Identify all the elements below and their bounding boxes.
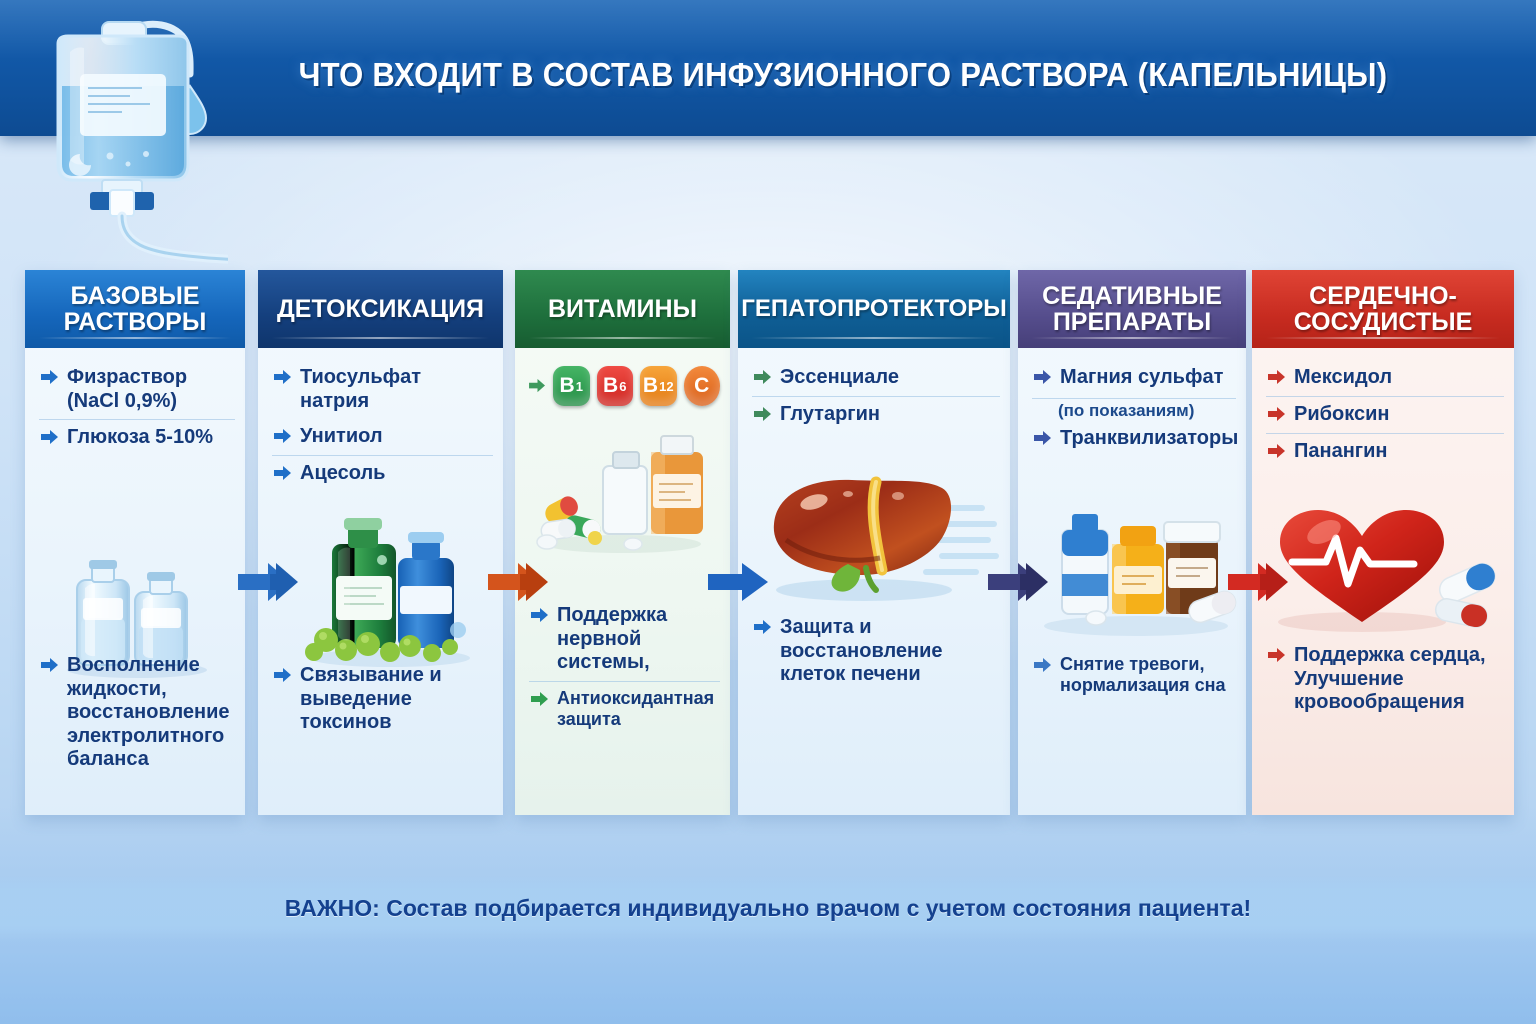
list-item[interactable]: Глюкоза 5-10% (39, 419, 235, 456)
list-item-label: Глюкоза 5-10% (67, 426, 213, 450)
arrow-right-icon (1034, 369, 1052, 390)
list-item[interactable]: Ацесоль (272, 455, 493, 492)
arrow-right-icon (274, 369, 292, 390)
benefit-list: Снятие тревоги, нормализация сна (1032, 648, 1236, 702)
category-card-detox[interactable]: ДЕТОКСИКАЦИЯ Тиосульфат натрия Унитиол (258, 270, 503, 815)
benefit-label: Защита и восстановление клеток печени (780, 616, 998, 687)
card-title: ВИТАМИНЫ (548, 296, 697, 322)
pill-bottles-capsules-illustration (1036, 500, 1246, 640)
badge-subscript: 12 (659, 379, 673, 394)
list-item-label: Рибоксин (1294, 403, 1389, 427)
liver-icon (756, 466, 1006, 606)
benefit-label: Снятие тревоги, нормализация сна (1060, 654, 1234, 696)
header-separator (1032, 337, 1232, 339)
list-item[interactable]: Транквилизаторы (1032, 421, 1236, 457)
arrow-right-icon (41, 429, 59, 450)
badge-subscript: 1 (576, 379, 583, 394)
footer-banner: ВАЖНО: Состав подбирается индивидуально … (0, 876, 1536, 940)
card-header-vitamins: ВИТАМИНЫ (515, 270, 730, 348)
category-card-base-solutions[interactable]: БАЗОВЫЕ РАСТВОРЫ Физраствор (NaCl 0,9%) … (25, 270, 245, 815)
list-item[interactable]: Поддержка нервной системы, (529, 598, 720, 681)
badge-letter: B (643, 374, 658, 398)
category-card-hepatoprotectors[interactable]: ГЕПАТОПРОТЕКТОРЫ Эссенциале Глутаргин (738, 270, 1010, 815)
card-title: СЕДАТИВНЫЕ ПРЕПАРАТЫ (1018, 283, 1246, 336)
list-item[interactable]: Тиосульфат натрия (272, 360, 493, 419)
vitamin-badge-b6[interactable]: B6 (597, 366, 634, 406)
ingredient-list: Магния сульфат (по показаниям) Транквили… (1032, 360, 1236, 457)
card-title: СЕРДЕЧНО-СОСУДИСТЫЕ (1252, 283, 1514, 336)
vitamin-badges: B1 B6 B12 C (529, 360, 720, 410)
arrow-right-icon (529, 378, 546, 398)
list-item-label: Эссенциале (780, 366, 899, 390)
list-item[interactable]: Мексидол (1266, 360, 1504, 396)
ingredient-list: Физраствор (NaCl 0,9%) Глюкоза 5-10% (39, 360, 235, 456)
list-item[interactable]: Восполнение жидкости, восстановление эле… (39, 648, 235, 778)
arrow-right-icon (1268, 406, 1286, 427)
category-card-vitamins[interactable]: ВИТАМИНЫ B1 B6 B12 (515, 270, 730, 815)
benefit-list: Поддержка сердца, Улучшение кровообращен… (1266, 638, 1504, 721)
footer-text: ВАЖНО: Состав подбирается индивидуально … (285, 895, 1251, 922)
list-item[interactable]: Глутаргин (752, 396, 1000, 433)
list-item-label: Тиосульфат натрия (300, 366, 491, 413)
ingredient-list: Тиосульфат натрия Унитиол Ацесоль (272, 360, 493, 492)
card-header-hepatoprotectors: ГЕПАТОПРОТЕКТОРЫ (738, 270, 1010, 348)
card-title: ДЕТОКСИКАЦИЯ (277, 296, 484, 322)
card-header-detox: ДЕТОКСИКАЦИЯ (258, 270, 503, 348)
arrow-right-icon (1268, 647, 1286, 668)
list-item-label: Физраствор (NaCl 0,9%) (67, 366, 233, 413)
benefit-list: Связывание и выведение токсинов (272, 658, 493, 741)
vitamin-badge-b1[interactable]: B1 (553, 366, 590, 406)
list-item[interactable]: Рибоксин (1266, 396, 1504, 433)
benefit-list: Защита и восстановление клеток печени (752, 610, 1000, 693)
connector-3 (706, 560, 778, 604)
list-item[interactable]: Антиоксидантная защита (529, 681, 720, 736)
header-separator (272, 337, 489, 339)
benefit-label: Антиоксидантная защита (557, 688, 718, 730)
card-header-base-solutions: БАЗОВЫЕ РАСТВОРЫ (25, 270, 245, 348)
card-body: Эссенциале Глутаргин (738, 348, 1010, 815)
arrow-right-icon (274, 428, 292, 449)
list-item[interactable]: Снятие тревоги, нормализация сна (1032, 648, 1236, 702)
list-item[interactable]: Панангин (1266, 433, 1504, 470)
category-card-sedatives[interactable]: СЕДАТИВНЫЕ ПРЕПАРАТЫ Магния сульфат (по … (1018, 270, 1246, 815)
arrow-right-icon (531, 607, 549, 628)
list-item[interactable]: Унитиол (272, 419, 493, 455)
list-item-label: Мексидол (1294, 366, 1392, 390)
detox-bottles-charcoal-illustration (298, 508, 483, 668)
list-item-label: Ацесоль (300, 462, 385, 486)
header-separator (1266, 337, 1500, 339)
list-item[interactable]: Эссенциале (752, 360, 1000, 396)
benefit-label: Поддержка сердца, Улучшение кровообращен… (1294, 644, 1502, 715)
connector-4 (986, 560, 1058, 604)
arrow-right-icon (1268, 369, 1286, 390)
list-item-label: Транквилизаторы (1060, 427, 1238, 451)
arrow-right-icon (41, 369, 59, 390)
badge-letter: B (560, 374, 575, 398)
list-item-label: Глутаргин (780, 403, 880, 427)
connector-2 (486, 560, 558, 604)
header-separator (39, 337, 231, 339)
benefit-list: Восполнение жидкости, восстановление эле… (39, 648, 235, 778)
benefit-label: Поддержка нервной системы, (557, 604, 718, 675)
arrow-right-icon (531, 691, 549, 712)
connector-5 (1226, 560, 1298, 604)
list-item-label: Унитиол (300, 425, 383, 449)
badge-letter: B (603, 374, 618, 398)
category-card-cardiovascular[interactable]: СЕРДЕЧНО-СОСУДИСТЫЕ Мексидол Рибоксин (1252, 270, 1514, 815)
arrow-right-icon (1268, 443, 1286, 464)
list-item[interactable]: Магния сульфат (1032, 360, 1236, 396)
list-item-label: Панангин (1294, 440, 1388, 464)
benefit-list: Поддержка нервной системы, Антиоксидантн… (529, 598, 720, 736)
vitamin-capsules-bottle-illustration (533, 408, 718, 558)
card-body: Физраствор (NaCl 0,9%) Глюкоза 5-10% (25, 348, 245, 815)
card-header-cardiovascular: СЕРДЕЧНО-СОСУДИСТЫЕ (1252, 270, 1514, 348)
vitamin-badge-c[interactable]: C (684, 366, 721, 406)
arrow-right-icon (754, 406, 772, 427)
ingredient-list: Мексидол Рибоксин Панангин (1266, 360, 1504, 470)
arrow-right-icon (1034, 657, 1052, 678)
arrow-right-icon (754, 369, 772, 390)
card-header-sedatives: СЕДАТИВНЫЕ ПРЕПАРАТЫ (1018, 270, 1246, 348)
card-title: БАЗОВЫЕ РАСТВОРЫ (25, 283, 245, 336)
arrow-right-icon (274, 465, 292, 486)
header-separator (752, 337, 996, 339)
indication-note: (по показаниям) (1032, 399, 1236, 421)
badge-subscript: 6 (619, 379, 626, 394)
arrow-right-icon (754, 619, 772, 640)
heart-ecg-capsule-illustration (1266, 506, 1508, 636)
card-title: ГЕПАТОПРОТЕКТОРЫ (741, 296, 1007, 321)
ingredient-list: Эссенциале Глутаргин (752, 360, 1000, 433)
arrow-right-icon (41, 657, 59, 678)
benefit-label: Восполнение жидкости, восстановление эле… (67, 654, 233, 772)
list-item[interactable]: Защита и восстановление клеток печени (752, 610, 1000, 693)
category-deck: БАЗОВЫЕ РАСТВОРЫ Физраствор (NaCl 0,9%) … (0, 0, 1536, 1024)
header-separator (529, 337, 716, 339)
list-item-label: Магния сульфат (1060, 366, 1223, 390)
vitamin-badge-b12[interactable]: B12 (640, 366, 677, 406)
benefit-label: Связывание и выведение токсинов (300, 664, 491, 735)
list-item[interactable]: Связывание и выведение токсинов (272, 658, 493, 741)
list-item[interactable]: Физраствор (NaCl 0,9%) (39, 360, 235, 419)
arrow-right-icon (1034, 430, 1052, 451)
list-item[interactable]: Поддержка сердца, Улучшение кровообращен… (1266, 638, 1504, 721)
arrow-right-icon (274, 667, 292, 688)
badge-letter: C (694, 374, 709, 398)
connector-1 (236, 560, 308, 604)
vitamin-badge-list: B1 B6 B12 C (529, 360, 720, 410)
